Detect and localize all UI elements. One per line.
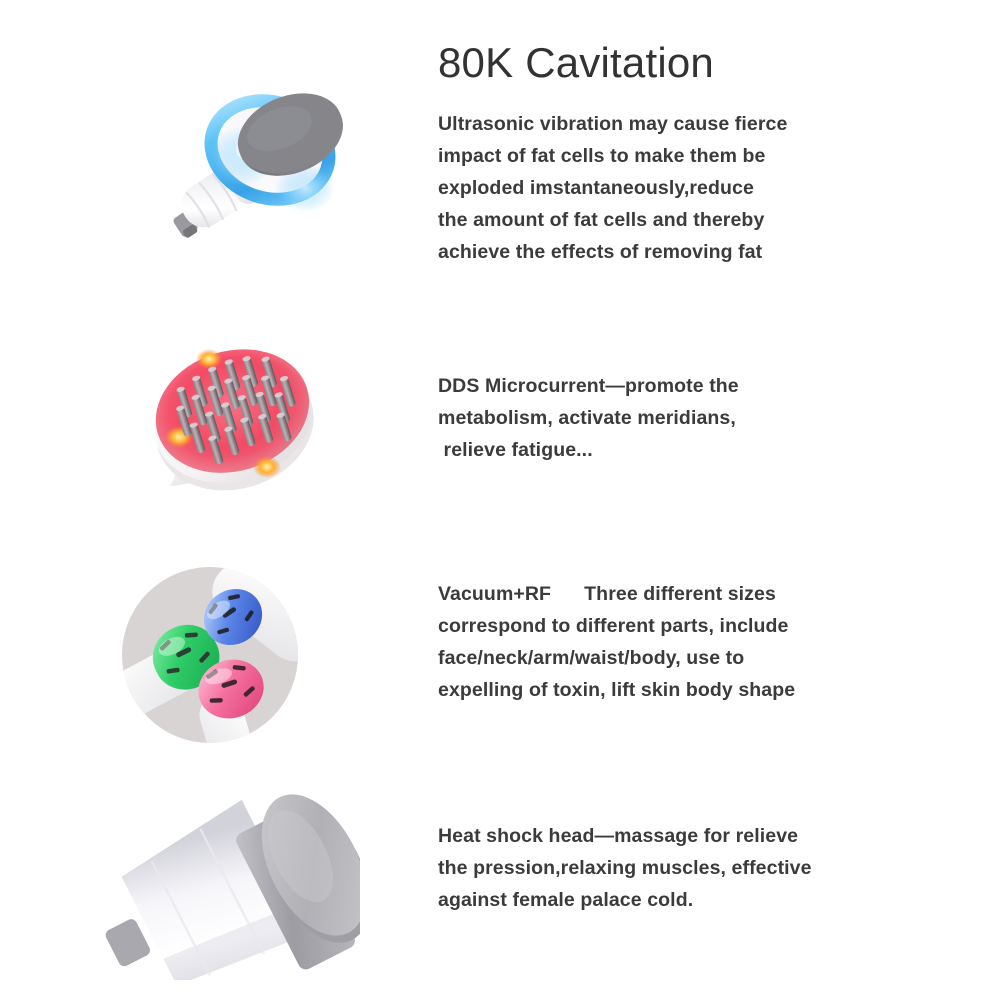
dds-microcurrent-device-icon [105,315,355,515]
text-line: the pression,relaxing muscles, effective [438,852,812,884]
product-infographic-page: 80K Cavitation Ultrasonic vibration may … [0,0,1000,1000]
text-line: DDS Microcurrent—promote the [438,370,739,402]
text-line: face/neck/arm/waist/body, use to [438,642,795,674]
text-line: expelling of toxin, lift skin body shape [438,674,795,706]
text-line: impact of fat cells to make them be [438,140,787,172]
dds-microcurrent-description: DDS Microcurrent—promote the metabolism,… [438,370,739,466]
text-line: metabolism, activate meridians, [438,402,739,434]
page-title: 80K Cavitation [438,40,714,86]
cavitation-handle-device-icon [95,70,365,270]
vacuum-rf-probes-device-icon [105,555,365,765]
text-column: 80K Cavitation Ultrasonic vibration may … [438,0,908,1000]
heat-shock-head-device-icon [100,785,360,980]
text-line: against female palace cold. [438,884,812,916]
text-line: Ultrasonic vibration may cause fierce [438,108,787,140]
heat-shock-description: Heat shock head—massage for relieve the … [438,820,812,916]
text-line: exploded imstantaneously,reduce [438,172,787,204]
text-line: Heat shock head—massage for relieve [438,820,812,852]
text-line: correspond to different parts, include [438,610,795,642]
vacuum-rf-description: Vacuum+RF Three different sizes correspo… [438,578,795,706]
cavitation-description: Ultrasonic vibration may cause fierce im… [438,108,787,268]
text-line: the amount of fat cells and thereby [438,204,787,236]
text-line: relieve fatigue... [438,434,739,466]
text-line: Vacuum+RF Three different sizes [438,578,795,610]
text-line: achieve the effects of removing fat [438,236,787,268]
